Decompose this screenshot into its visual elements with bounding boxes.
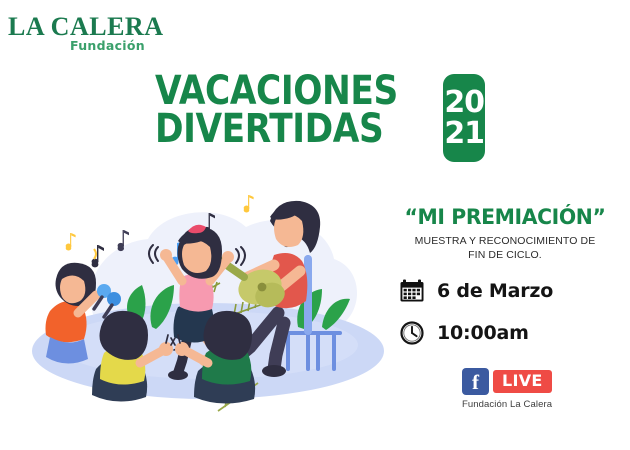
green-child-hand [175, 342, 189, 356]
facebook-page-caption: Fundación La Calera [462, 399, 572, 410]
girl-shoe [168, 370, 188, 380]
event-title: “MI PREMIACIÓN” [389, 205, 622, 229]
girl-hand-left [160, 249, 172, 261]
facebook-glyph: f [472, 372, 479, 393]
event-info-panel: “MI PREMIACIÓN” MUESTRA Y RECONOCIMIENTO… [385, 205, 625, 346]
calendar-icon [399, 278, 425, 304]
children-music-class-illustration [22, 185, 392, 420]
event-subtitle-line-1: MUESTRA Y RECONOCIMIENTO DE [385, 234, 625, 248]
poster-canvas: LA CALERA Fundación VACACIONES DIVERTIDA… [0, 0, 630, 450]
headline-block: VACACIONES DIVERTIDAS 20 21 [155, 72, 485, 162]
music-note-6 [244, 195, 254, 212]
brand-logo-subtitle: Fundación [70, 38, 145, 53]
live-badge[interactable]: LIVE [493, 370, 552, 394]
event-time-text: 10:00am [437, 322, 529, 344]
event-date-text: 6 de Marzo [437, 280, 553, 302]
event-time-row: 10:00am [385, 320, 625, 346]
music-note-7 [66, 233, 76, 250]
facebook-live-block[interactable]: f LIVE Fundación La Calera [462, 368, 572, 410]
event-subtitle-line-2: FIN DE CICLO. [385, 248, 625, 262]
headline-line-1: VACACIONES [155, 72, 398, 110]
year-badge-bottom: 21 [444, 118, 484, 150]
girl-hand-right [222, 251, 234, 263]
year-badge-top: 20 [444, 87, 484, 119]
facebook-icon[interactable]: f [462, 368, 489, 395]
headline-words: VACACIONES DIVERTIDAS [155, 72, 437, 148]
note-accent-1 [94, 249, 96, 259]
facebook-live-row[interactable]: f LIVE [462, 368, 572, 395]
brand-logo-name: LA CALERA [8, 14, 168, 40]
year-badge: 20 21 [443, 74, 485, 162]
event-date-row: 6 de Marzo [385, 278, 625, 304]
brand-logo: LA CALERA Fundación [8, 14, 168, 64]
clock-icon [399, 320, 425, 346]
event-subtitle: MUESTRA Y RECONOCIMIENTO DE FIN DE CICLO… [385, 234, 625, 262]
headline-line-2: DIVERTIDAS [155, 110, 398, 148]
maraca-boy-face [60, 275, 85, 303]
teacher-shoe-back [262, 365, 286, 377]
